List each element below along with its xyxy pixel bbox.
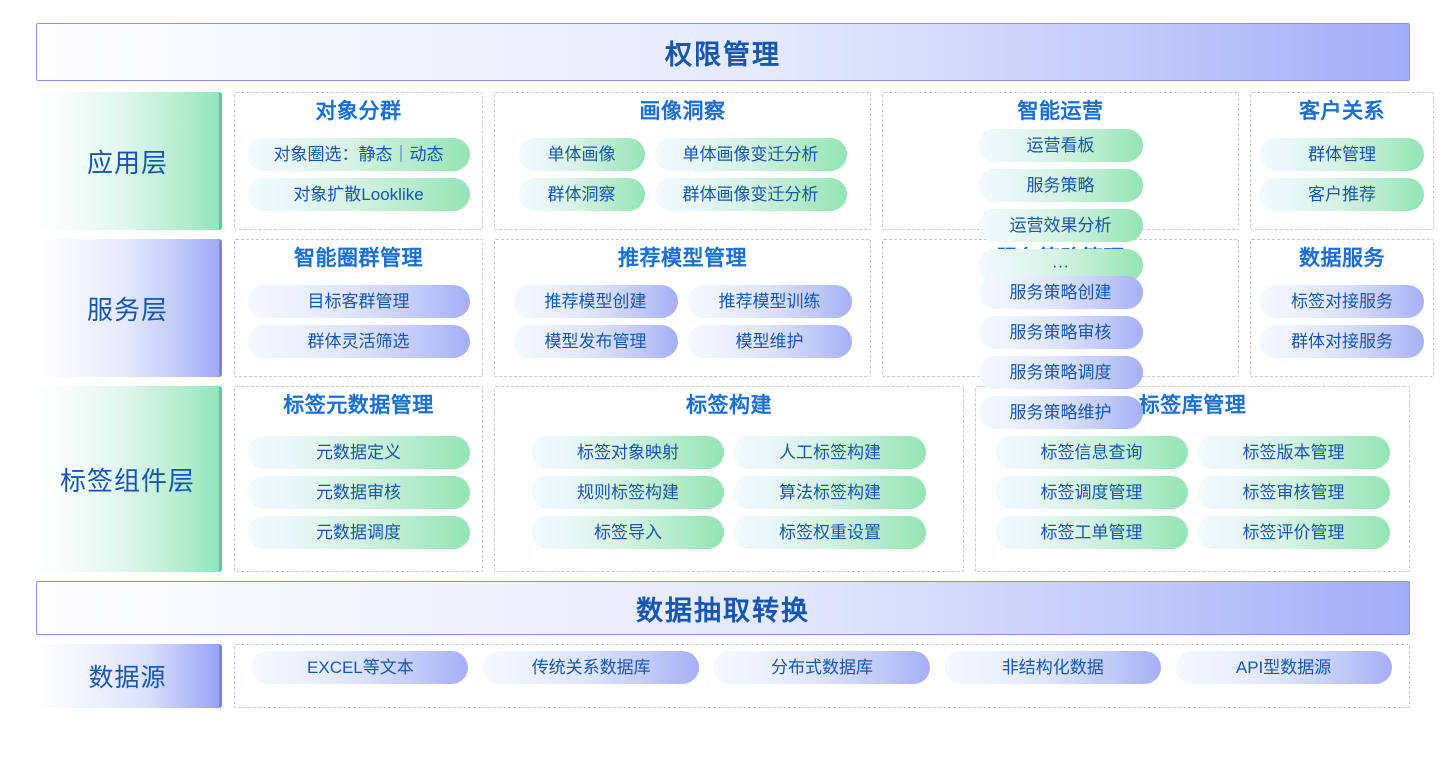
pill-item[interactable]: 模型维护 [688, 325, 852, 358]
group-title: 标签库管理 [1139, 393, 1247, 419]
pill-item[interactable]: 服务策略审核 [979, 316, 1143, 349]
layer-row-service: 服务层 智能圈群管理 目标客群管理 群体灵活筛选 推荐模型管理 推荐模型创建 推… [36, 239, 1410, 377]
pill-item[interactable]: 推荐模型创建 [514, 285, 678, 318]
layer-label-datasource: 数据源 [36, 644, 222, 708]
pill-grid: 推荐模型创建 推荐模型训练 模型发布管理 模型维护 [504, 276, 861, 368]
pill-item[interactable]: 单体画像 [519, 138, 645, 171]
layer-label-application: 应用层 [36, 92, 222, 230]
group-title: 客户关系 [1299, 99, 1385, 125]
permission-management-banner: 权限管理 [36, 23, 1410, 81]
group-title: 推荐模型管理 [618, 246, 747, 272]
pill-item[interactable]: 对象扩散Looklike [248, 178, 470, 211]
pill-item[interactable]: 模型发布管理 [514, 325, 678, 358]
group-title: 对象分群 [316, 99, 402, 125]
pill-item[interactable]: 标签审核管理 [1198, 476, 1390, 509]
pill-item[interactable]: 运营看板 [979, 129, 1143, 162]
group-tag-construction: 标签构建 标签对象映射 人工标签构建 规则标签构建 算法标签构建 标签导入 标签… [494, 386, 964, 572]
pill-item[interactable]: 算法标签构建 [734, 476, 926, 509]
pill-item[interactable]: 人工标签构建 [734, 436, 926, 469]
pill-item[interactable]: 群体灵活筛选 [248, 325, 470, 358]
group-title: 标签构建 [686, 393, 772, 419]
pill-item[interactable]: 标签评价管理 [1198, 516, 1390, 549]
group-customer-relationship: 客户关系 群体管理 客户推荐 [1250, 92, 1434, 230]
layer-row-tag-component: 标签组件层 标签元数据管理 元数据定义 元数据审核 元数据调度 标签构建 标签对… [36, 386, 1410, 572]
group-title: 画像洞察 [640, 99, 726, 125]
pill-grid: 目标客群管理 群体灵活筛选 [244, 276, 473, 368]
pill-item[interactable]: 标签权重设置 [734, 516, 926, 549]
datasource-groups: EXCEL等文本 传统关系数据库 分布式数据库 非结构化数据 API型数据源 [234, 644, 1410, 708]
pill-item[interactable]: 传统关系数据库 [483, 651, 699, 684]
pill-item[interactable]: 对象圈选：静态｜动态 [248, 138, 470, 171]
pill-item[interactable]: 标签信息查询 [996, 436, 1188, 469]
pill-item[interactable]: 单体画像变迁分析 [655, 138, 847, 171]
data-extraction-transform-banner: 数据抽取转换 [36, 581, 1410, 635]
group-tag-metadata-management: 标签元数据管理 元数据定义 元数据审核 元数据调度 [234, 386, 483, 572]
pill-grid: 标签对象映射 人工标签构建 规则标签构建 算法标签构建 标签导入 标签权重设置 [504, 423, 954, 563]
pill-grid: 单体画像 单体画像变迁分析 群体洞察 群体画像变迁分析 [504, 129, 861, 221]
pill-item[interactable]: 推荐模型训练 [688, 285, 852, 318]
group-data-service: 数据服务 标签对接服务 群体对接服务 [1250, 239, 1434, 377]
layer-label-service: 服务层 [36, 239, 222, 377]
layer-row-datasource: 数据源 EXCEL等文本 传统关系数据库 分布式数据库 非结构化数据 API型数… [36, 644, 1410, 708]
pill-item[interactable]: 群体管理 [1260, 138, 1424, 171]
pill-item[interactable]: 运营效果分析 [979, 209, 1143, 242]
pill-item[interactable]: 元数据调度 [248, 516, 470, 549]
group-intelligent-operation: 智能运营 运营看板 服务策略 运营效果分析 ··· [882, 92, 1239, 230]
pill-item[interactable]: 标签调度管理 [996, 476, 1188, 509]
pill-item[interactable]: 元数据定义 [248, 436, 470, 469]
group-profile-insight: 画像洞察 单体画像 单体画像变迁分析 群体洞察 群体画像变迁分析 [494, 92, 871, 230]
group-smart-group-management: 智能圈群管理 目标客群管理 群体灵活筛选 [234, 239, 483, 377]
group-object-segmentation: 对象分群 对象圈选：静态｜动态 对象扩散Looklike [234, 92, 483, 230]
pill-item[interactable]: 标签对接服务 [1260, 285, 1424, 318]
pill-item[interactable]: EXCEL等文本 [252, 651, 468, 684]
pill-grid: 标签对接服务 群体对接服务 [1260, 276, 1424, 368]
group-recommendation-model-management: 推荐模型管理 推荐模型创建 推荐模型训练 模型发布管理 模型维护 [494, 239, 871, 377]
group-title: 标签元数据管理 [283, 393, 434, 419]
service-layer-groups: 智能圈群管理 目标客群管理 群体灵活筛选 推荐模型管理 推荐模型创建 推荐模型训… [234, 239, 1434, 377]
pill-grid: 标签信息查询 标签版本管理 标签调度管理 标签审核管理 标签工单管理 标签评价管… [985, 423, 1400, 563]
group-datasource-items: EXCEL等文本 传统关系数据库 分布式数据库 非结构化数据 API型数据源 [234, 644, 1410, 708]
pill-item[interactable]: 服务策略 [979, 169, 1143, 202]
pill-item[interactable]: 标签导入 [532, 516, 724, 549]
layer-label-tag-component: 标签组件层 [36, 386, 222, 572]
pill-grid: EXCEL等文本 传统关系数据库 分布式数据库 非结构化数据 API型数据源 [245, 651, 1399, 701]
layer-row-application: 应用层 对象分群 对象圈选：静态｜动态 对象扩散Looklike 画像洞察 单体… [36, 92, 1410, 230]
pill-item[interactable]: 服务策略创建 [979, 276, 1143, 309]
pill-item[interactable]: 标签对象映射 [532, 436, 724, 469]
group-title: 数据服务 [1299, 246, 1385, 272]
pill-item[interactable]: API型数据源 [1176, 651, 1392, 684]
pill-item[interactable]: 服务策略调度 [979, 356, 1143, 389]
pill-item[interactable]: 客户推荐 [1260, 178, 1424, 211]
architecture-diagram: 权限管理 应用层 对象分群 对象圈选：静态｜动态 对象扩散Looklike 画像… [0, 0, 1444, 766]
pill-item[interactable]: 目标客群管理 [248, 285, 470, 318]
application-layer-groups: 对象分群 对象圈选：静态｜动态 对象扩散Looklike 画像洞察 单体画像 单… [234, 92, 1434, 230]
pill-grid: 群体管理 客户推荐 [1260, 129, 1424, 221]
pill-item[interactable]: 标签工单管理 [996, 516, 1188, 549]
pill-item[interactable]: 标签版本管理 [1198, 436, 1390, 469]
pill-item[interactable]: 群体对接服务 [1260, 325, 1424, 358]
pill-item[interactable]: 规则标签构建 [532, 476, 724, 509]
pill-item[interactable]: 非结构化数据 [945, 651, 1161, 684]
pill-item[interactable]: 群体洞察 [519, 178, 645, 211]
tag-component-layer-groups: 标签元数据管理 元数据定义 元数据审核 元数据调度 标签构建 标签对象映射 人工… [234, 386, 1410, 572]
group-title: 智能圈群管理 [294, 246, 423, 272]
pill-grid: 对象圈选：静态｜动态 对象扩散Looklike [244, 129, 473, 221]
pill-item[interactable]: 分布式数据库 [714, 651, 930, 684]
pill-item[interactable]: 服务策略维护 [979, 396, 1143, 429]
pill-item[interactable]: 元数据审核 [248, 476, 470, 509]
pill-grid: 元数据定义 元数据审核 元数据调度 [244, 423, 473, 563]
pill-item[interactable]: 群体画像变迁分析 [655, 178, 847, 211]
group-title: 智能运营 [1018, 99, 1104, 125]
